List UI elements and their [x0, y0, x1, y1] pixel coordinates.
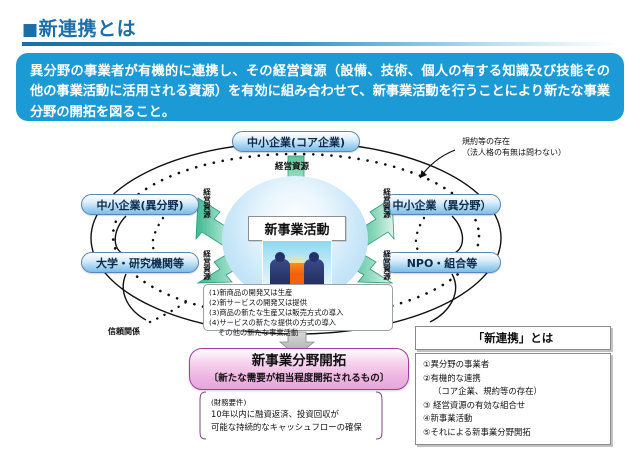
resource-label-right-top: 経営資源 [383, 188, 391, 218]
resource-label-left-bottom: 経営資源 [203, 250, 211, 280]
legend-heading: 「新連携」とは [415, 326, 611, 350]
legend-item: ②有機的な連携 [423, 372, 603, 386]
collaboration-diagram: 中小企業(コア企業) 中小企業(異分野) 大学・研究機関等 中小企業（異分野） … [0, 126, 640, 452]
slide-canvas: ■新連携とは 異分野の事業者が有機的に連携し、その経営資源（設備、技術、個人の有… [0, 0, 640, 452]
page-title: ■新連携とは [22, 14, 136, 41]
legend-item: ①異分野の事業者 [423, 358, 603, 372]
node-sme-other-field-left[interactable]: 中小企業(異分野) [81, 194, 199, 215]
note-rules-line2: （法人格の有無は問わない） [462, 148, 566, 159]
finance-line2: 可能な持続的なキャッシュフローの確保 [211, 421, 373, 434]
resource-label-left-top: 経営資源 [203, 188, 211, 218]
node-sme-other-field-right[interactable]: 中小企業（異分野） [383, 194, 501, 215]
title-text: 新連携とは [39, 18, 137, 40]
activity-item: (1)新商品の開発又は生産 [209, 288, 387, 298]
hub-label: 新事業活動 [248, 216, 346, 241]
activity-item: (4)サービスの新たな提供の方式の導入 [209, 318, 387, 328]
legend-item: ④新事業活動 [423, 412, 603, 426]
financial-requirement-note: (財務要件) 10年以内に融資返済、投資回収が 可能な持続的なキャッシュフローの… [203, 394, 381, 438]
finance-line1: 10年以内に融資返済、投資回収が [211, 408, 373, 421]
title-underline-rule [22, 42, 618, 46]
activity-item: (3)商品の新たな生産又は販売方式の導入 [209, 308, 387, 318]
new-business-activities-list: (1)新商品の開発又は生産 (2)新サービスの開発又は提供 (3)商品の新たな生… [203, 284, 393, 331]
legend-item: ⑤それによる新事業分野開拓 [423, 426, 603, 440]
title-bullet-icon: ■ [22, 20, 39, 40]
legend-item: ③ 経営資源の有効な組合せ [423, 399, 603, 413]
node-npo-union[interactable]: NPO・組合等 [383, 252, 501, 273]
node-university-research[interactable]: 大学・研究機関等 [81, 252, 199, 273]
finance-heading: (財務要件) [211, 397, 373, 408]
note-rules-existence: 規約等の存在 （法人格の有無は問わない） [462, 137, 566, 159]
definition-callout: 異分野の事業者が有機的に連携し、その経営資源（設備、技術、個人の有する知識及び技… [16, 53, 624, 121]
resource-label-right-bottom: 経営資源 [383, 250, 391, 280]
activity-item: (2)新サービスの開発又は提供 [209, 298, 387, 308]
outcome-title: 新事業分野開拓 [252, 354, 347, 369]
legend-panel: 「新連携」とは ①異分野の事業者 ②有機的な連携 （コア企業、規約等の存在） ③… [415, 326, 611, 445]
note-trust-relationship: 信頼関係 [108, 326, 140, 337]
resource-label-top: 経営資源 [275, 160, 309, 172]
node-core-company[interactable]: 中小企業(コア企業) [232, 131, 360, 152]
business-meeting-illustration [262, 240, 332, 290]
legend-items: ①異分野の事業者 ②有機的な連携 （コア企業、規約等の存在） ③ 経営資源の有効… [415, 353, 611, 445]
note-rules-line1: 規約等の存在 [462, 137, 566, 148]
activity-item: その他の新たな事業活動 [209, 328, 387, 338]
outcome-box: 新事業分野開拓 〔新たな需要が相当程度開拓されるもの〕 [189, 348, 409, 390]
legend-item: （コア企業、規約等の存在） [423, 385, 603, 399]
outcome-subtitle: 〔新たな需要が相当程度開拓されるもの〕 [209, 370, 390, 384]
